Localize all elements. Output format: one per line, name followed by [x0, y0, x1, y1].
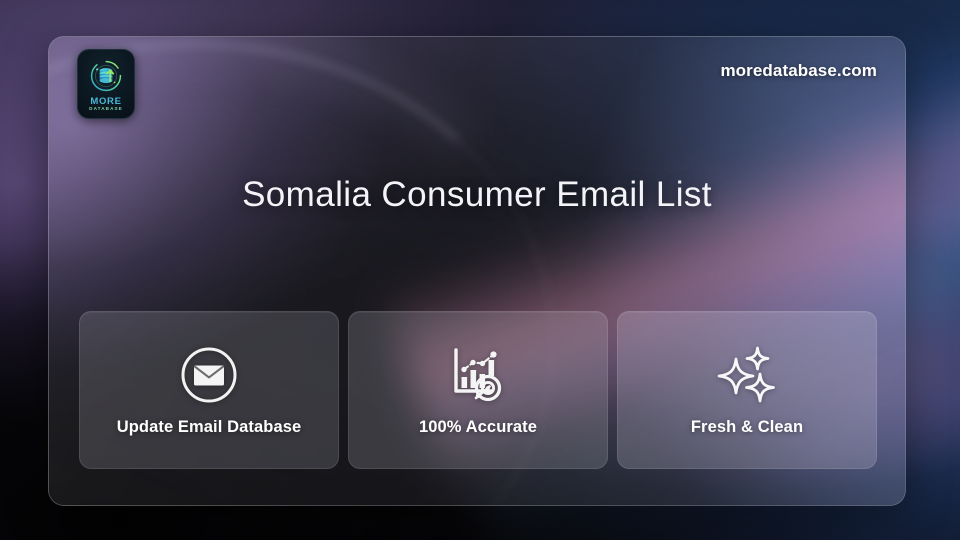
- feature-card-100-percent-accurate[interactable]: 100% Accurate: [348, 311, 608, 469]
- feature-card-update-email-database[interactable]: Update Email Database: [79, 311, 339, 469]
- page-title: Somalia Consumer Email List: [49, 175, 905, 215]
- logo-brand-secondary: DATABASE: [89, 107, 123, 112]
- logo-brand-primary: MORE: [90, 97, 121, 107]
- feature-card-list: Update Email Database: [79, 311, 877, 469]
- feature-card-fresh-and-clean[interactable]: Fresh & Clean: [617, 311, 877, 469]
- feature-card-label: 100% Accurate: [419, 418, 537, 437]
- sparkles-icon: [716, 344, 778, 406]
- database-stack-icon: [86, 56, 126, 96]
- feature-card-label: Update Email Database: [117, 418, 302, 437]
- feature-card-label: Fresh & Clean: [691, 418, 803, 437]
- site-url[interactable]: moredatabase.com: [720, 61, 877, 81]
- brand-logo[interactable]: MORE DATABASE: [77, 49, 135, 119]
- glass-panel: MORE DATABASE moredatabase.com Somalia C…: [48, 36, 906, 506]
- slide-canvas: MORE DATABASE moredatabase.com Somalia C…: [0, 0, 960, 540]
- envelope-in-circle-icon: [180, 344, 238, 406]
- bar-chart-target-icon: [448, 344, 508, 406]
